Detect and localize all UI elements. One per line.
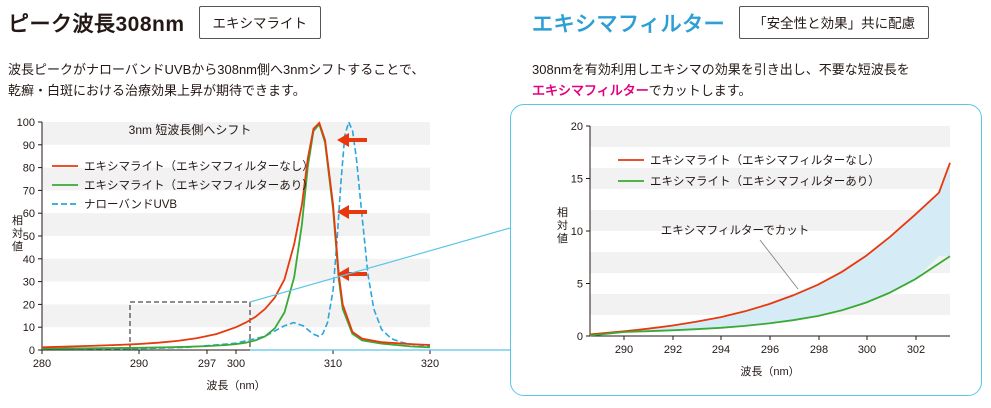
right-panel: エキシマフィルター 「安全性と効果」共に配慮 308nmを有効利用しエキシマの効… <box>500 0 991 408</box>
svg-text:296: 296 <box>761 344 779 356</box>
left-lead-line2: 乾癬・白斑における治療効果上昇が期待できます。 <box>8 80 488 101</box>
svg-text:20: 20 <box>23 299 35 311</box>
left-panel: ピーク波長308nm エキシマライト 波長ピークがナローバンドUVBから308n… <box>0 0 500 408</box>
left-lead-line1: 波長ピークがナローバンドUVBから308nm側へ3nmシフトすることで、 <box>8 59 488 80</box>
right-heading-row: エキシマフィルター 「安全性と効果」共に配慮 <box>532 6 929 39</box>
svg-text:対: 対 <box>12 226 23 240</box>
right-lead-rest: でカットします。 <box>649 83 752 98</box>
svg-text:100: 100 <box>17 117 35 129</box>
left-lead: 波長ピークがナローバンドUVBから308nm側へ3nmシフトすることで、 乾癬・… <box>8 59 488 102</box>
right-tag: 「安全性と効果」共に配慮 <box>739 6 929 39</box>
svg-text:10: 10 <box>571 226 583 238</box>
svg-text:5: 5 <box>577 279 583 291</box>
svg-text:302: 302 <box>907 344 925 356</box>
left-chart-ylabel: 相 対 値 <box>12 214 23 253</box>
right-lead-highlight: エキシマフィルター <box>532 83 649 98</box>
right-chart: 0 5 10 15 20 290 292 294 296 298 300 302… <box>510 104 980 394</box>
svg-text:290: 290 <box>615 344 633 356</box>
svg-text:値: 値 <box>12 240 23 253</box>
left-title: ピーク波長308nm <box>8 8 185 38</box>
right-legend-label-0: エキシマライト（エキシマフィルターなし） <box>650 154 880 167</box>
right-lead: 308nmを有効利用しエキシマの効果を引き出し、不要な短波長を エキシマフィルタ… <box>532 59 982 102</box>
svg-text:294: 294 <box>712 344 730 356</box>
left-chart-xticklabels: 280 290 297 300 310 320 <box>33 358 439 370</box>
svg-text:40: 40 <box>23 254 35 266</box>
svg-text:80: 80 <box>23 163 35 175</box>
left-chart-bands <box>42 122 430 350</box>
right-title: エキシマフィルター <box>532 8 725 38</box>
svg-text:値: 値 <box>557 232 568 245</box>
svg-text:310: 310 <box>324 358 342 370</box>
svg-text:90: 90 <box>23 140 35 152</box>
svg-text:300: 300 <box>858 344 876 356</box>
svg-text:297: 297 <box>198 358 216 370</box>
svg-text:70: 70 <box>23 185 35 197</box>
right-chart-yticklabels: 0 5 10 15 20 <box>571 121 583 343</box>
right-legend-label-1: エキシマライト（エキシマフィルターあり） <box>650 175 880 188</box>
svg-text:60: 60 <box>23 208 35 220</box>
svg-text:298: 298 <box>810 344 828 356</box>
right-chart-xlabel: 波長（nm） <box>740 365 799 378</box>
svg-text:対: 対 <box>557 218 568 232</box>
left-chart-xlabel: 波長（nm） <box>206 379 265 392</box>
legend-label-0: エキシマライト（エキシマフィルターなし） <box>84 160 314 173</box>
legend-label-2: ナローバンドUVB <box>84 198 177 211</box>
legend-label-1: エキシマライト（エキシマフィルターあり） <box>84 179 314 192</box>
left-heading-row: ピーク波長308nm エキシマライト <box>8 6 321 39</box>
left-tag: エキシマライト <box>199 6 322 39</box>
right-chart-ylabel: 相 対 値 <box>557 206 568 245</box>
svg-text:相: 相 <box>12 214 23 227</box>
left-chart: 0 10 20 30 40 50 60 70 80 90 100 280 290… <box>0 112 500 402</box>
svg-text:20: 20 <box>571 121 583 133</box>
svg-text:292: 292 <box>664 344 682 356</box>
svg-text:320: 320 <box>421 358 439 370</box>
svg-text:50: 50 <box>23 231 35 243</box>
svg-text:290: 290 <box>130 358 148 370</box>
svg-text:300: 300 <box>227 358 245 370</box>
svg-text:15: 15 <box>571 174 583 186</box>
svg-text:0: 0 <box>577 331 583 343</box>
svg-text:30: 30 <box>23 277 35 289</box>
right-lead-line2: エキシマフィルターでカットします。 <box>532 80 982 101</box>
svg-text:0: 0 <box>29 345 35 357</box>
right-chart-xticklabels: 290 292 294 296 298 300 302 <box>615 344 925 356</box>
svg-text:280: 280 <box>33 358 51 370</box>
right-lead-line1: 308nmを有効利用しエキシマの効果を引き出し、不要な短波長を <box>532 59 982 80</box>
left-chart-annotation: 3nm 短波長側へシフト <box>129 123 252 137</box>
svg-text:相: 相 <box>557 206 568 219</box>
right-chart-annotation: エキシマフィルターでカット <box>661 224 810 237</box>
svg-text:10: 10 <box>23 322 35 334</box>
